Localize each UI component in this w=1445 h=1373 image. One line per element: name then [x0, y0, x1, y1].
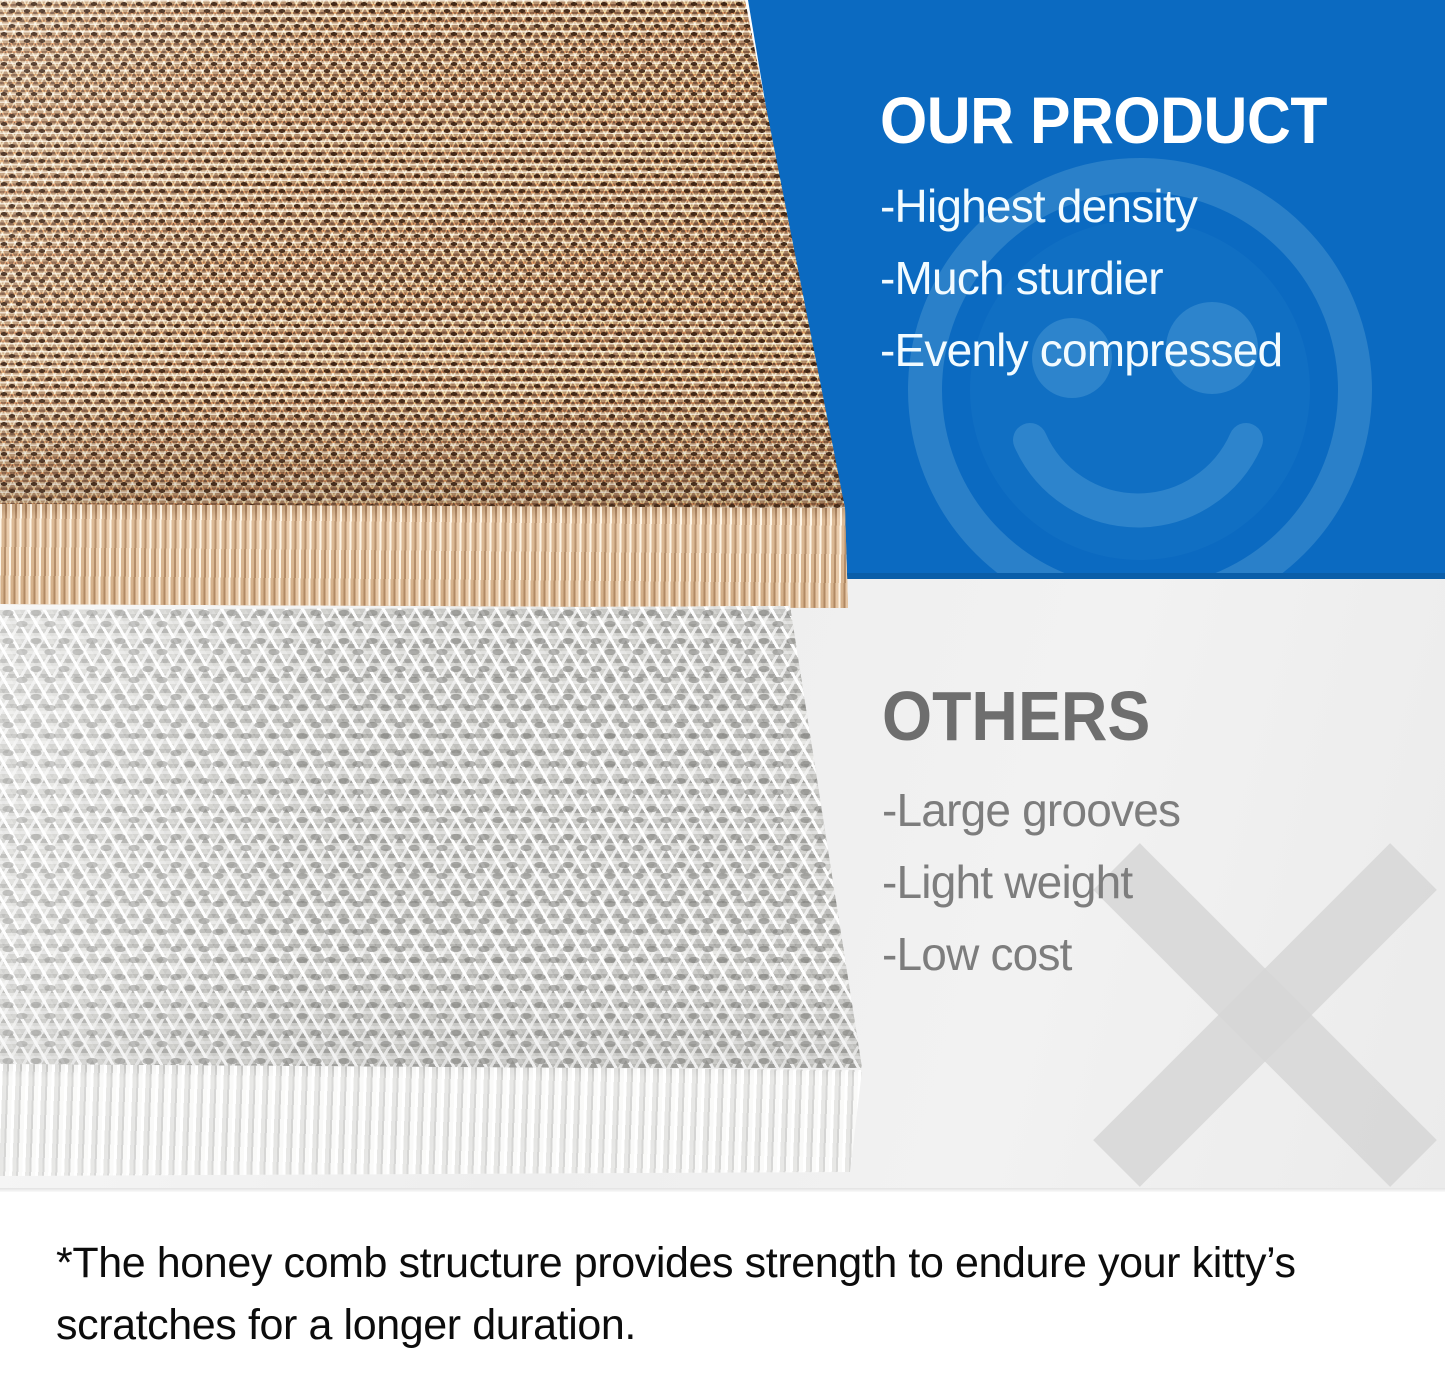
list-item: -Light weight [882, 846, 1427, 918]
product-comparison-infographic: OUR PRODUCT -Highest density -Much sturd… [0, 0, 1445, 1373]
footnote-text: *The honey comb structure provides stren… [56, 1232, 1406, 1356]
our-product-slab-image [0, 0, 850, 612]
list-item: -Highest density [880, 170, 1425, 242]
our-product-bullet-list: -Highest density -Much sturdier -Evenly … [880, 170, 1425, 386]
others-slab-image [0, 606, 880, 1190]
others-heading: OTHERS [882, 680, 1383, 752]
our-product-text-block: OUR PRODUCT -Highest density -Much sturd… [880, 88, 1425, 386]
list-item: -Large grooves [882, 774, 1427, 846]
others-bullet-list: -Large grooves -Light weight -Low cost [882, 774, 1427, 990]
white-slab-side-edge [0, 1064, 880, 1184]
white-honeycomb-shading [0, 606, 880, 1068]
list-item: -Much sturdier [880, 242, 1425, 314]
brown-slab-side-edge [0, 504, 850, 612]
our-product-heading: OUR PRODUCT [880, 88, 1381, 152]
others-text-block: OTHERS -Large grooves -Light weight -Low… [882, 680, 1427, 990]
list-item: -Low cost [882, 918, 1427, 990]
list-item: -Evenly compressed [880, 314, 1425, 386]
brown-honeycomb-shading [0, 0, 850, 508]
